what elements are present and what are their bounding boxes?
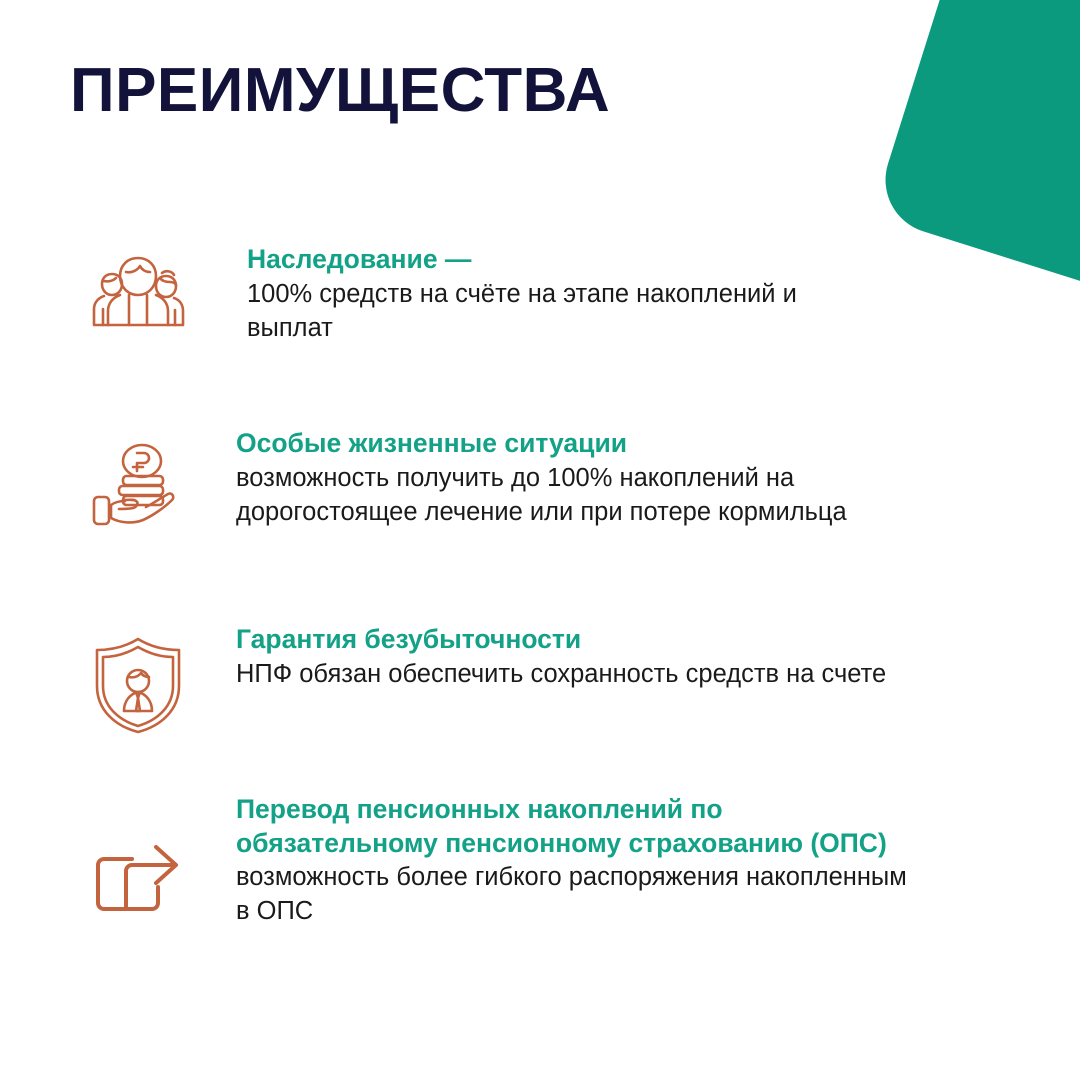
benefit-title: Гарантия безубыточности: [236, 623, 946, 657]
benefit-body: 100% средств на счёте на этапе накоплени…: [247, 278, 846, 346]
benefit-body: возможность более гибкого распоряжения н…: [236, 861, 926, 929]
benefit-item-inheritance: Наследование — 100% средств на счёте на …: [86, 243, 846, 345]
slide-canvas: ПРЕИМУЩЕСТВА: [0, 0, 1080, 1080]
benefit-title: Перевод пенсионных накоплений по обязате…: [236, 793, 926, 860]
page-title: ПРЕИМУЩЕСТВА: [70, 58, 610, 123]
family-people-icon: [86, 243, 190, 332]
benefit-text-block: Особые жизненные ситуации возможность по…: [190, 427, 926, 529]
benefit-text-block: Перевод пенсионных накоплений по обязате…: [190, 793, 926, 929]
benefit-item-special-situations: Особые жизненные ситуации возможность по…: [86, 427, 926, 535]
hand-with-coins-ruble-icon: [86, 427, 190, 535]
benefit-item-ops-transfer: Перевод пенсионных накоплений по обязате…: [86, 793, 926, 929]
benefit-text-block: Гарантия безубыточности НПФ обязан обесп…: [190, 623, 946, 692]
benefit-title: Наследование —: [247, 243, 846, 277]
export-arrow-icon: [86, 793, 190, 921]
shield-with-person-icon: [86, 623, 190, 735]
benefit-body: НПФ обязан обеспечить сохранность средст…: [236, 658, 946, 692]
benefit-item-guarantee: Гарантия безубыточности НПФ обязан обесп…: [86, 623, 946, 735]
benefit-body: возможность получить до 100% накоплений …: [236, 462, 926, 530]
benefit-title: Особые жизненные ситуации: [236, 427, 926, 461]
benefit-text-block: Наследование — 100% средств на счёте на …: [190, 243, 846, 345]
teal-rounded-rectangle-decoration: [872, 0, 1080, 305]
